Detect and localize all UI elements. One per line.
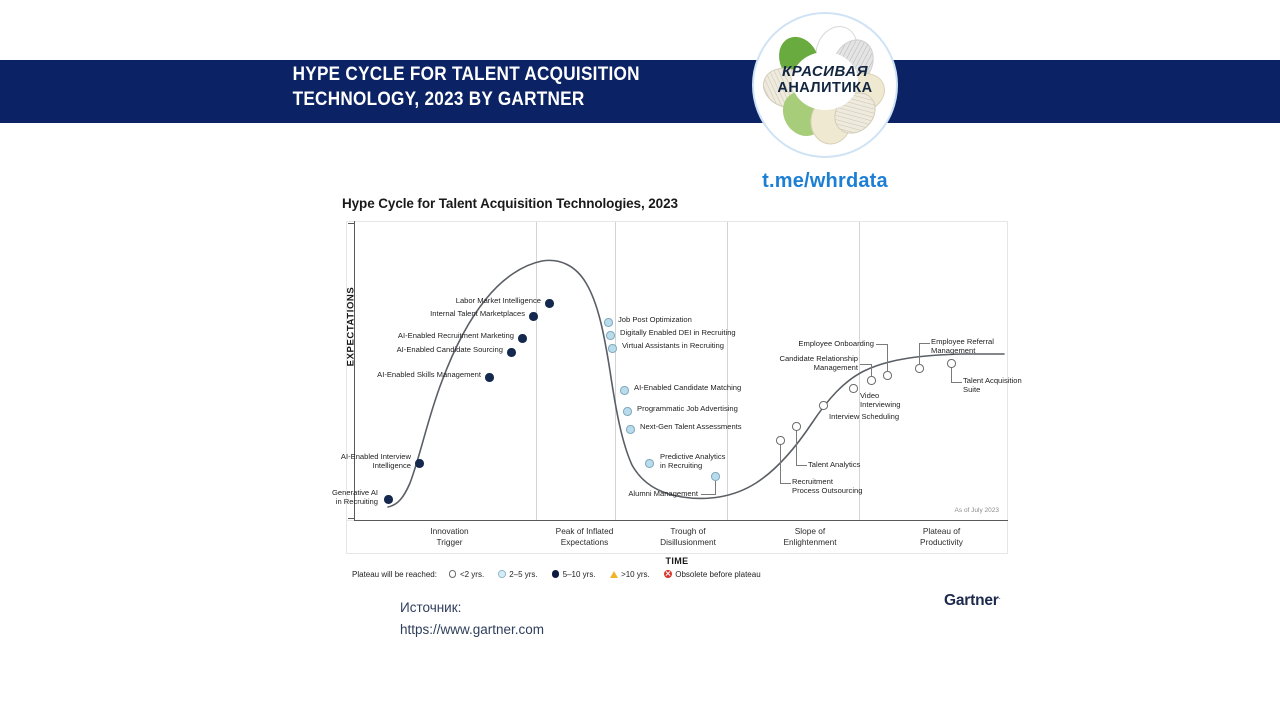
circle-light-icon — [498, 570, 506, 578]
gartner-wordmark: Gartner — [944, 592, 999, 609]
legend-item-lt2yrs[interactable]: <2 yrs. — [449, 570, 484, 579]
legend-heading: Plateau will be reached: — [352, 570, 437, 579]
source-url[interactable]: https://www.gartner.com — [400, 619, 544, 641]
label-digitally-enabled-dei-in-recruiting: Digitally Enabled DEI in Recruiting — [620, 328, 736, 337]
point-predictive-analytics-in-recruiting[interactable] — [645, 459, 654, 468]
x-circle-icon — [664, 570, 672, 578]
point-generative-ai-in-recruiting[interactable] — [384, 495, 393, 504]
label-ai-enabled-candidate-sourcing: AI-Enabled Candidate Sourcing — [357, 345, 503, 354]
legend-item-obsolete[interactable]: Obsolete before plateau — [664, 570, 761, 579]
phase-label-peak-of-inflated-expectations: Peak of Inflated Expectations — [537, 526, 632, 547]
phase-label-innovation-trigger: Innovation Trigger — [347, 526, 552, 547]
source-label: Источник: — [400, 597, 544, 619]
chart-legend: Plateau will be reached: <2 yrs. 2–5 yrs… — [352, 568, 771, 580]
leader-onboarding-h — [876, 344, 888, 345]
logo-line-2: АНАЛИТИКА — [766, 80, 884, 97]
label-alumni-management: Alumni Management — [598, 489, 698, 498]
legend-label-2to5yrs: 2–5 yrs. — [509, 570, 537, 579]
label-next-gen-talent-assessments: Next-Gen Talent Assessments — [640, 422, 742, 431]
point-recruitment-process-outsourcing[interactable] — [776, 436, 785, 445]
leader-onboarding-v — [887, 344, 888, 372]
circle-dark-icon — [552, 570, 560, 578]
label-ai-enabled-candidate-matching: AI-Enabled Candidate Matching — [634, 383, 741, 392]
label-employee-onboarding: Employee Onboarding — [764, 339, 874, 348]
leader-alumni-management-v — [715, 481, 716, 495]
label-job-post-optimization: Job Post Optimization — [618, 315, 692, 324]
leader-crm-h — [860, 364, 872, 365]
point-candidate-relationship-management[interactable] — [867, 376, 876, 385]
point-alumni-management[interactable] — [711, 472, 720, 481]
label-ai-enabled-interview-intelligence: AI-Enabled Interview Intelligence — [313, 452, 411, 471]
leader-crm-v — [871, 364, 872, 377]
legend-label-gt10yrs: >10 yrs. — [621, 570, 650, 579]
label-candidate-relationship-management: Candidate Relationship Management — [750, 354, 858, 373]
point-employee-onboarding[interactable] — [883, 371, 892, 380]
phase-strip: Innovation Trigger Peak of Inflated Expe… — [346, 521, 1008, 554]
label-internal-talent-marketplaces: Internal Talent Marketplaces — [392, 309, 525, 318]
point-programmatic-job-advertising[interactable] — [623, 407, 632, 416]
leader-rpo-v — [780, 445, 781, 483]
label-virtual-assistants-in-recruiting: Virtual Assistants in Recruiting — [622, 341, 724, 350]
circle-open-icon — [449, 570, 457, 578]
point-internal-talent-marketplaces[interactable] — [529, 312, 538, 321]
triangle-icon — [610, 571, 618, 578]
label-recruitment-process-outsourcing: Recruitment Process Outsourcing — [792, 477, 862, 496]
point-employee-referral-management[interactable] — [915, 364, 924, 373]
legend-label-lt2yrs: <2 yrs. — [460, 570, 484, 579]
label-ai-enabled-recruitment-marketing: AI-Enabled Recruitment Marketing — [350, 331, 514, 340]
label-video-interviewing: Video Interviewing — [860, 391, 901, 410]
label-interview-scheduling: Interview Scheduling — [829, 412, 899, 421]
point-ai-enabled-skills-management[interactable] — [485, 373, 494, 382]
legend-item-gt10yrs[interactable]: >10 yrs. — [610, 570, 650, 579]
label-talent-acquisition-suite: Talent Acquisition Suite — [963, 376, 1022, 395]
hype-cycle-chart: Hype Cycle for Talent Acquisition Techno… — [330, 196, 1014, 586]
point-talent-analytics[interactable] — [792, 422, 801, 431]
phase-label-plateau-of-productivity: Plateau of Productivity — [876, 526, 1007, 547]
brand-logo: КРАСИВАЯ АНАЛИТИКА — [752, 12, 900, 160]
gartner-logo: Gartner. — [944, 592, 1001, 610]
leader-talent-analytics-v — [796, 431, 797, 465]
source-note: Источник: https://www.gartner.com — [400, 597, 544, 641]
label-generative-ai-in-recruiting: Generative AI in Recruiting — [274, 488, 378, 507]
label-talent-analytics: Talent Analytics — [808, 460, 860, 469]
leader-tas-h — [951, 382, 962, 383]
x-axis-label: TIME — [346, 556, 1008, 566]
leader-talent-analytics-h — [796, 465, 807, 466]
label-employee-referral-management: Employee Referral Management — [931, 337, 994, 356]
point-next-gen-talent-assessments[interactable] — [626, 425, 635, 434]
point-video-interviewing[interactable] — [849, 384, 858, 393]
label-labor-market-intelligence: Labor Market Intelligence — [418, 296, 541, 305]
phase-label-slope-of-enlightenment: Slope of Enlightenment — [744, 526, 876, 547]
point-ai-enabled-candidate-matching[interactable] — [620, 386, 629, 395]
point-talent-acquisition-suite[interactable] — [947, 359, 956, 368]
telegram-handle[interactable]: t.me/whrdata — [700, 170, 950, 193]
legend-item-5to10yrs[interactable]: 5–10 yrs. — [552, 570, 596, 579]
leader-rpo-h — [780, 483, 791, 484]
leader-tas-v — [951, 368, 952, 382]
leader-alumni-management-h — [701, 494, 716, 495]
logo-line-1: КРАСИВАЯ — [766, 64, 884, 80]
point-job-post-optimization[interactable] — [604, 318, 613, 327]
label-programmatic-job-advertising: Programmatic Job Advertising — [637, 404, 738, 413]
point-virtual-assistants-in-recruiting[interactable] — [608, 344, 617, 353]
point-ai-enabled-interview-intelligence[interactable] — [415, 459, 424, 468]
legend-item-2to5yrs[interactable]: 2–5 yrs. — [498, 570, 537, 579]
label-ai-enabled-skills-management: AI-Enabled Skills Management — [343, 370, 481, 379]
leader-referral-h — [919, 343, 930, 344]
point-interview-scheduling[interactable] — [819, 401, 828, 410]
logo-text: КРАСИВАЯ АНАЛИТИКА — [766, 64, 884, 97]
point-ai-enabled-recruitment-marketing[interactable] — [518, 334, 527, 343]
point-labor-market-intelligence[interactable] — [545, 299, 554, 308]
leader-referral-v — [919, 343, 920, 365]
banner-title: HYPE CYCLE FOR TALENT ACQUISITION TECHNO… — [293, 62, 715, 112]
point-digitally-enabled-dei-in-recruiting[interactable] — [606, 331, 615, 340]
point-ai-enabled-candidate-sourcing[interactable] — [507, 348, 516, 357]
legend-label-obsolete: Obsolete before plateau — [675, 570, 760, 579]
legend-label-5to10yrs: 5–10 yrs. — [563, 570, 596, 579]
chart-title: Hype Cycle for Talent Acquisition Techno… — [342, 196, 678, 211]
phase-label-trough-of-disillusionment: Trough of Disillusionment — [632, 526, 744, 547]
label-predictive-analytics-in-recruiting: Predictive Analytics in Recruiting — [660, 452, 725, 471]
gartner-tm: . — [999, 592, 1001, 601]
